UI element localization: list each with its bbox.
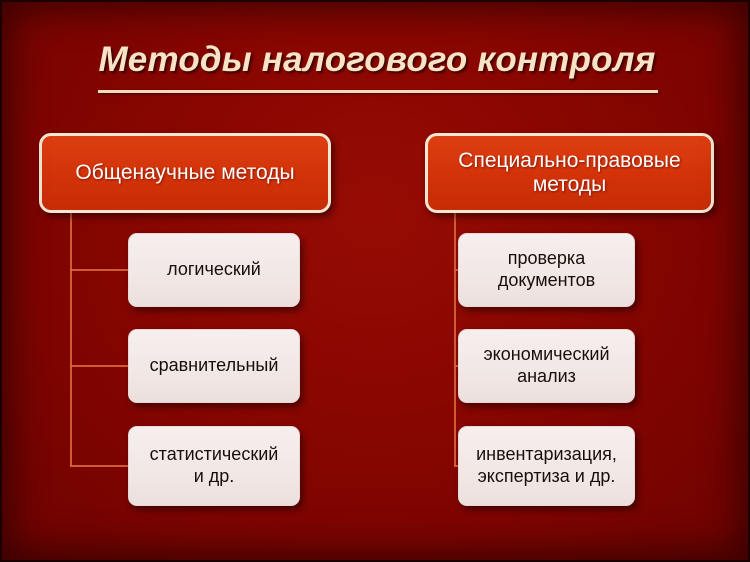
leaf-box-left-1[interactable]: логический <box>128 233 300 307</box>
leaf-box-left-2[interactable]: сравнительный <box>128 329 300 403</box>
connector-branch-left-2 <box>70 365 128 367</box>
page-title: Методы налогового контроля <box>2 40 750 80</box>
connector-vertical-left <box>70 213 72 466</box>
header-box-general-scientific-methods[interactable]: Общенаучные методы <box>39 133 331 213</box>
leaf-box-right-2[interactable]: экономический анализ <box>458 329 635 403</box>
leaf-box-right-1[interactable]: проверка документов <box>458 233 635 307</box>
slide-canvas: Методы налогового контроля Общенаучные м… <box>0 0 750 562</box>
header-box-special-legal-methods[interactable]: Специально-правовые методы <box>425 133 714 213</box>
leaf-box-right-3[interactable]: инвентаризация, экспертиза и др. <box>458 426 635 506</box>
leaf-box-left-3[interactable]: статистический и др. <box>128 426 300 506</box>
title-underline <box>98 90 658 93</box>
connector-branch-left-1 <box>70 269 128 271</box>
connector-vertical-right <box>454 213 456 466</box>
connector-branch-left-3 <box>70 465 128 467</box>
